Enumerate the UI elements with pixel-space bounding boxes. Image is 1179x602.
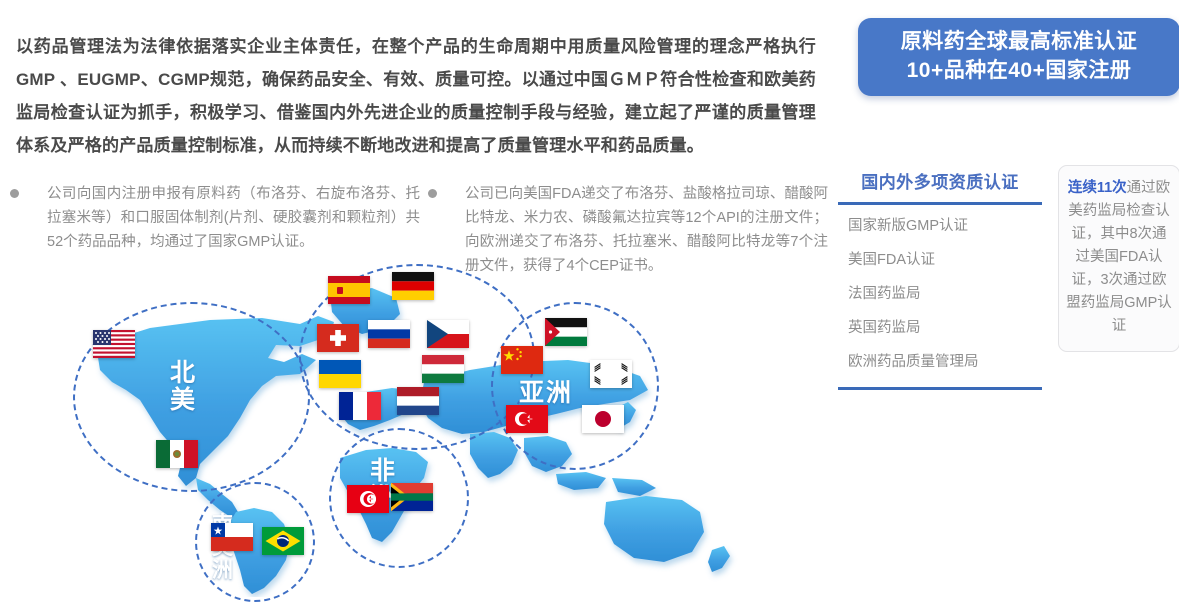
flag-united-states	[93, 330, 135, 358]
flag-japan	[582, 405, 624, 433]
flag-brazil	[262, 527, 304, 555]
flag-mexico	[156, 440, 198, 468]
flag-netherlands	[397, 387, 439, 415]
flag-spain	[328, 276, 370, 304]
flag-switzerland	[317, 324, 359, 352]
flag-chile	[211, 523, 253, 551]
bullet-text: 公司向国内注册申报有原料药（布洛芬、右旋布洛芬、托拉塞米等）和口服固体制剂(片剂…	[47, 182, 420, 254]
flag-turkey	[506, 405, 548, 433]
flag-south-korea	[590, 360, 632, 388]
flag-ukraine	[319, 360, 361, 388]
certification-list-item[interactable]: 英国药监局	[848, 319, 1042, 337]
slide-root: 以药品管理法为法律依据落实企业主体责任，在整个产品的生命周期中用质量风险管理的理…	[0, 0, 1179, 597]
bullet-dot-icon	[10, 189, 19, 198]
flag-hungary	[422, 355, 464, 383]
certification-list-item[interactable]: 法国药监局	[848, 285, 1042, 303]
inspection-card-text: 通过欧美药监局检查认证，其中8次通过美国FDA认证，3次通过欧盟药监局GMP认证	[1066, 180, 1172, 334]
badge-line-2: 10+品种在40+国家注册	[868, 56, 1170, 85]
flag-germany	[392, 272, 434, 300]
inspection-count-highlight: 连续11次	[1068, 180, 1127, 196]
certification-list: 国家新版GMP认证 美国FDA认证 法国药监局 英国药监局 欧洲药品质量管理局	[838, 205, 1042, 371]
world-map: 北美 亚洲 非洲 南美洲	[0, 250, 830, 597]
certification-list-item[interactable]: 美国FDA认证	[848, 251, 1042, 269]
badge-line-1: 原料药全球最高标准认证	[901, 30, 1138, 53]
intro-paragraph: 以药品管理法为法律依据落实企业主体责任，在整个产品的生命周期中用质量风险管理的理…	[16, 30, 816, 162]
bullet-item: 公司向国内注册申报有原料药（布洛芬、右旋布洛芬、托拉塞米等）和口服固体制剂(片剂…	[10, 182, 420, 254]
certification-divider-bottom	[838, 387, 1042, 390]
flag-russia	[368, 320, 410, 348]
headline-badge: 原料药全球最高标准认证 10+品种在40+国家注册	[858, 18, 1179, 96]
flag-czech-republic	[427, 320, 469, 348]
flag-france	[339, 392, 381, 420]
inspection-highlight-card: 连续11次通过欧美药监局检查认证，其中8次通过美国FDA认证，3次通过欧盟药监局…	[1058, 165, 1179, 352]
flag-tunisia	[347, 485, 389, 513]
flag-china	[501, 346, 543, 374]
certification-list-item[interactable]: 欧洲药品质量管理局	[848, 353, 1042, 371]
certification-panel: 国内外多项资质认证 国家新版GMP认证 美国FDA认证 法国药监局 英国药监局 …	[838, 168, 1042, 390]
flag-jordan	[545, 318, 587, 346]
certification-list-item[interactable]: 国家新版GMP认证	[848, 217, 1042, 235]
bullet-dot-icon	[428, 189, 437, 198]
certification-panel-title: 国内外多项资质认证	[838, 168, 1042, 193]
flag-south-africa	[391, 483, 433, 511]
